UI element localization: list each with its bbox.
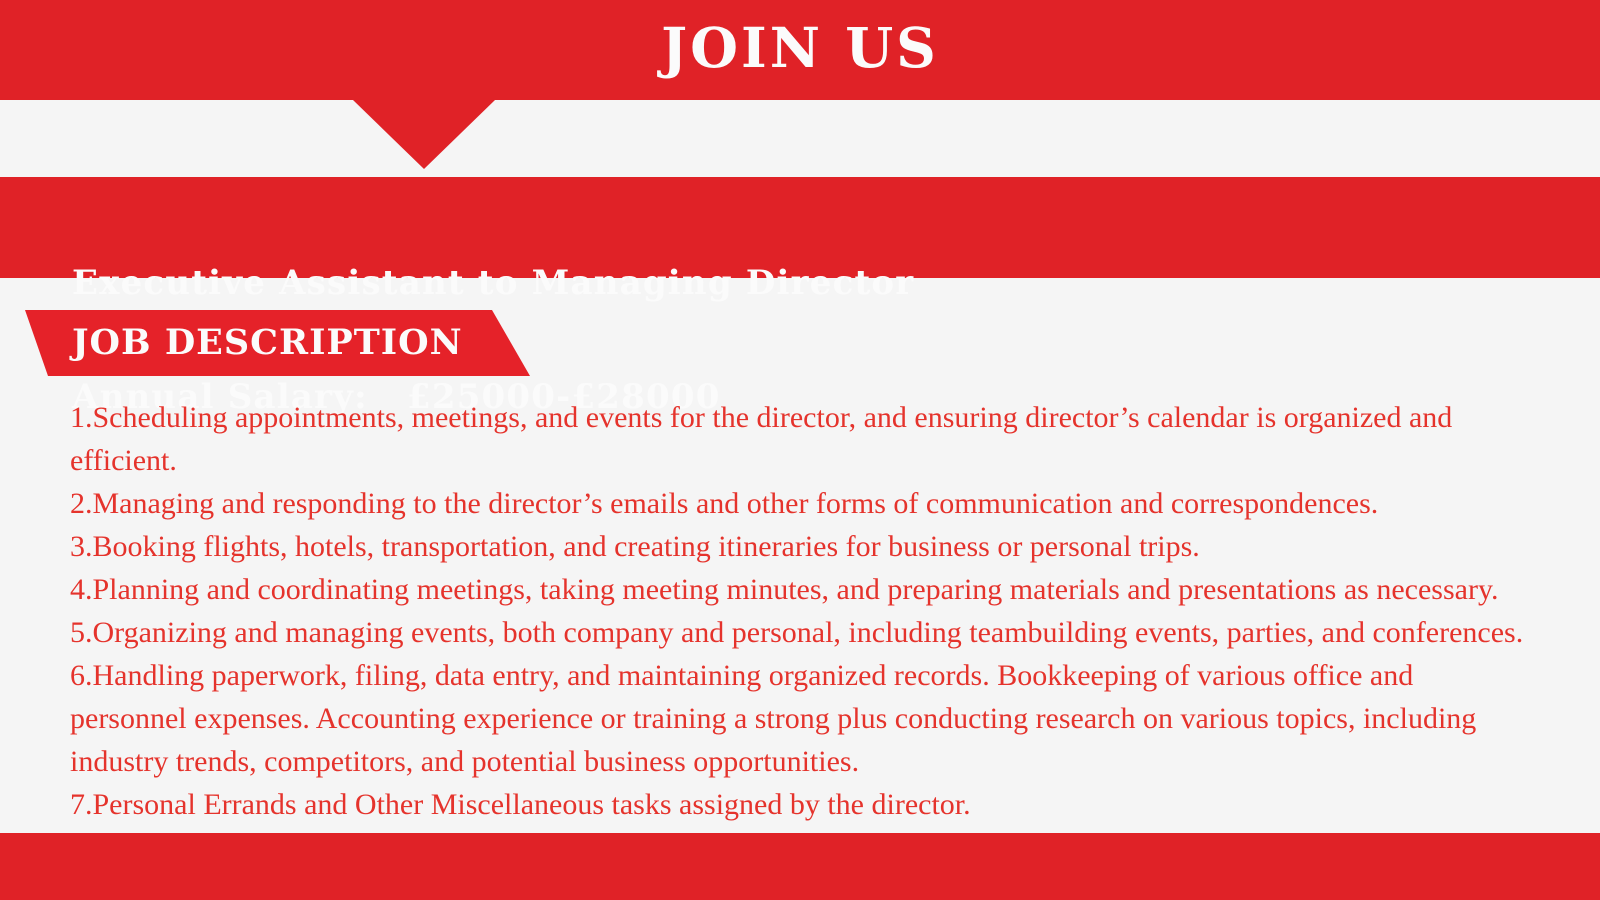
page-title: JOIN US — [0, 0, 1600, 100]
job-description-list: 1.Scheduling appointments, meetings, and… — [70, 396, 1530, 826]
job-title-band: Executive Assistant to Managing Director… — [0, 177, 1600, 278]
job-description-ribbon-label: JOB DESCRIPTION — [72, 310, 463, 376]
list-item: 2.Managing and responding to the directo… — [70, 482, 1530, 525]
job-position-title: Executive Assistant to Managing Director — [72, 264, 914, 302]
list-item: 7.Personal Errands and Other Miscellaneo… — [70, 783, 1530, 826]
list-item: 6.Handling paperwork, filing, data entry… — [70, 654, 1530, 783]
list-item: 5.Organizing and managing events, both c… — [70, 611, 1530, 654]
list-item: 3.Booking flights, hotels, transportatio… — [70, 525, 1530, 568]
list-item: 1.Scheduling appointments, meetings, and… — [70, 396, 1530, 482]
list-item: 4.Planning and coordinating meetings, ta… — [70, 568, 1530, 611]
footer-band — [0, 833, 1600, 900]
job-description-ribbon: JOB DESCRIPTION — [0, 310, 560, 376]
header-notch-triangle-icon — [353, 100, 495, 169]
